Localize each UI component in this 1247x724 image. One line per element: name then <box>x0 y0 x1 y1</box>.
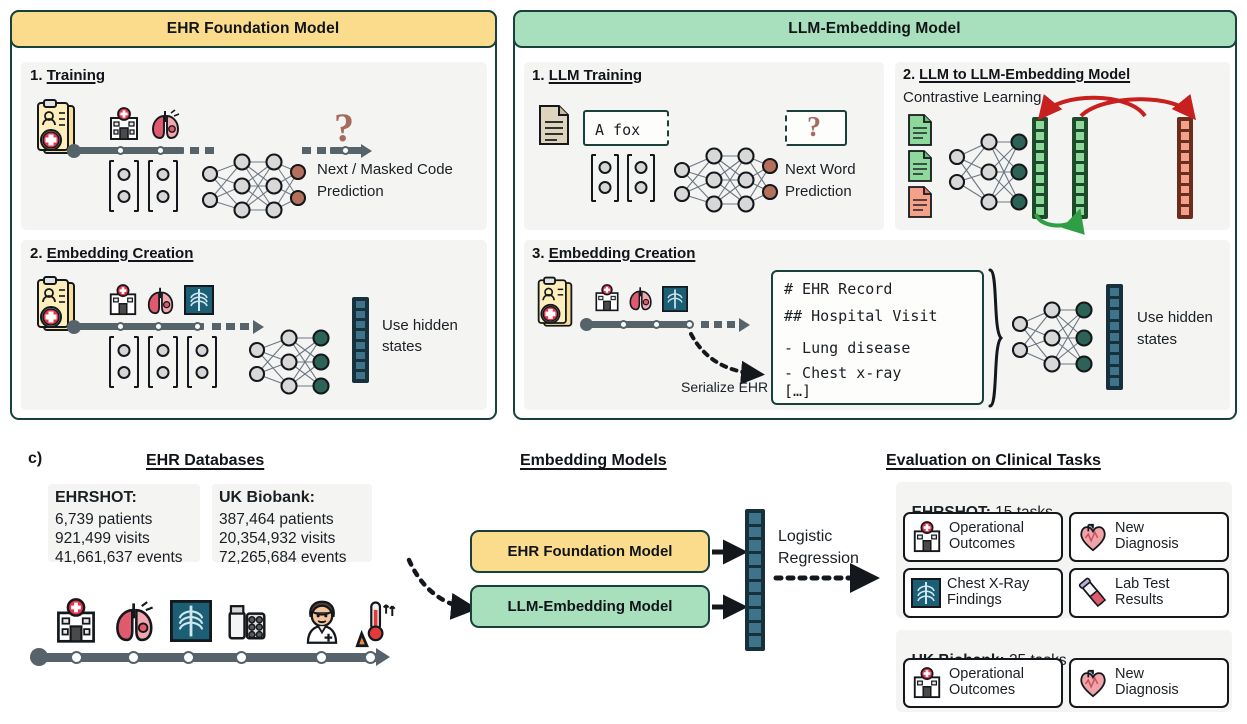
record-line-5: […] <box>784 378 811 404</box>
panel-b-step1-output-line2: Prediction <box>785 184 852 201</box>
neural-network-diagram <box>670 148 780 214</box>
panel-c-letter: c) <box>28 450 42 468</box>
record-line-3: - Lung disease <box>784 335 910 361</box>
serialize-arrow <box>687 330 771 382</box>
panel-a-step1-output-line1: Next / Masked Code <box>317 162 453 179</box>
task-card-chest-xray-findings[interactable]: Chest X-Ray Findings <box>903 568 1063 618</box>
lungs-icon <box>145 284 177 316</box>
panel-b-step2-label: LLM to LLM-Embedding Model <box>919 67 1130 83</box>
task-label-line1: New <box>1115 520 1144 536</box>
panel-b-step1-label: LLM Training <box>549 67 642 84</box>
ehrshot-events: 41,661,637 events <box>55 549 183 566</box>
embedding-output-vector <box>745 509 765 651</box>
lungs-icon <box>627 284 655 312</box>
contrastive-repel-arrows <box>1025 90 1205 126</box>
panel-a-step1-number: 1. <box>30 67 43 84</box>
panel-b-step1-output-line1: Next Word <box>785 162 856 179</box>
token-embedding-2 <box>148 336 178 388</box>
timeline-node <box>619 320 628 329</box>
task-label-line2: Findings <box>947 592 1002 608</box>
panel-a-step2-output-line2: states <box>382 339 422 356</box>
negative-document-icon <box>907 186 933 218</box>
predicted-token-box: ? <box>785 110 847 146</box>
lungs-icon <box>112 598 158 644</box>
task-card-new-diagnosis-ukb[interactable]: New Diagnosis <box>1069 658 1229 708</box>
question-mark-icon: ? <box>807 112 821 144</box>
hospital-icon <box>107 284 139 316</box>
timeline-node <box>235 651 248 664</box>
anchor-embedding-vector <box>1032 117 1048 219</box>
timeline-node <box>116 322 125 331</box>
token-embedding-1 <box>109 336 139 388</box>
panel-b-step2-subtitle: Contrastive Learning <box>903 90 1041 107</box>
panel-a-step2-number: 2. <box>30 245 43 262</box>
document-icon <box>537 104 571 146</box>
task-label-line1: Operational <box>949 520 1024 536</box>
neural-network-diagram <box>947 127 1031 217</box>
panel-b-step3-number: 3. <box>532 245 545 262</box>
ehrshot-visits: 921,499 visits <box>55 530 150 547</box>
task-label-line1: Lab Test <box>1115 576 1170 592</box>
timeline-dash <box>317 147 326 154</box>
lungs-icon <box>149 107 183 141</box>
task-label-line2: Diagnosis <box>1115 682 1179 698</box>
panel-a-title-bar: EHR Foundation Model <box>10 10 497 48</box>
chest-xray-icon <box>662 286 688 312</box>
llm-embedding-model-pill[interactable]: LLM-Embedding Model <box>470 585 710 628</box>
task-label-line1: New <box>1115 666 1144 682</box>
timeline-dash <box>212 323 221 330</box>
panel-a-step2-title: 2. Embedding Creation <box>30 245 193 262</box>
task-card-operational-outcomes-ukb[interactable]: Operational Outcomes <box>903 658 1063 708</box>
question-mark-icon: ? <box>334 104 354 151</box>
hospital-icon <box>107 107 141 141</box>
panel-b-step1-number: 1. <box>532 67 545 84</box>
panel-b-title-bar: LLM-Embedding Model <box>513 10 1237 48</box>
timeline-dash <box>714 321 722 328</box>
ukbiobank-name: UK Biobank: <box>219 489 315 507</box>
ukbiobank-visits: 20,354,932 visits <box>219 530 335 547</box>
token-embedding-1 <box>109 160 139 212</box>
logistic-regression-label-line1: Logistic <box>778 528 832 546</box>
positive-document-icon <box>907 150 933 182</box>
timeline-node <box>116 146 125 155</box>
panel-a-step1-title: 1. Training <box>30 67 105 84</box>
timeline-node <box>156 146 165 155</box>
thermometer-icon <box>354 598 396 644</box>
vector-to-tasks-arrow <box>776 570 886 586</box>
task-label-line1: Operational <box>949 666 1024 682</box>
chest-xray-icon <box>911 578 941 608</box>
curly-brace <box>987 268 1005 408</box>
patient-record-icon <box>535 277 575 329</box>
task-label-line2: Outcomes <box>949 682 1015 698</box>
heart-icon <box>1077 667 1109 699</box>
panel-b-step3-output-line1: Use hidden <box>1137 310 1213 327</box>
panel-b-title: LLM-Embedding Model <box>788 20 960 38</box>
token-embedding-3 <box>187 336 217 388</box>
test-tube-icon <box>1077 577 1109 609</box>
medication-icon <box>226 600 268 642</box>
ukbiobank-events: 72,265,684 events <box>219 549 347 566</box>
task-card-lab-test-results[interactable]: Lab Test Results <box>1069 568 1229 618</box>
panel-a-step2-label: Embedding Creation <box>47 245 194 262</box>
timeline-track <box>74 147 184 154</box>
neural-network-diagram <box>198 152 308 222</box>
timeline-node <box>154 322 163 331</box>
panel-b-step3-title: 3. Embedding Creation <box>532 245 695 262</box>
panel-a-step1-output-line2: Prediction <box>317 184 384 201</box>
hidden-state-vector <box>352 297 369 383</box>
hidden-state-vector <box>1106 284 1123 390</box>
hospital-icon <box>911 521 943 553</box>
token-embedding-2 <box>627 154 655 202</box>
hospital-icon <box>911 667 943 699</box>
ehr-foundation-model-label: EHR Foundation Model <box>508 543 673 560</box>
token-embedding-2 <box>148 160 178 212</box>
timeline-node <box>685 320 694 329</box>
panel-a-ehr-foundation-model: EHR Foundation Model 1. Training <box>10 10 497 420</box>
llm-embedding-model-label: LLM-Embedding Model <box>508 598 673 615</box>
contrastive-attract-arrow <box>1030 212 1100 234</box>
panel-a-step2-output-line1: Use hidden <box>382 318 458 335</box>
embedding-models-title: Embedding Models <box>520 452 667 470</box>
task-label-line2: Outcomes <box>949 536 1015 552</box>
task-label-line2: Diagnosis <box>1115 536 1179 552</box>
timeline-node <box>315 651 328 664</box>
timeline-dash <box>240 323 249 330</box>
task-label-line2: Results <box>1115 592 1163 608</box>
timeline-node <box>652 320 661 329</box>
ukbiobank-patients: 387,464 patients <box>219 511 334 528</box>
serialize-label: Serialize EHR <box>681 380 768 396</box>
heart-icon <box>1077 521 1109 553</box>
ehr-databases-title: EHR Databases <box>146 452 264 470</box>
panel-b-step2-number: 2. <box>903 67 915 83</box>
chest-xray-icon <box>170 600 212 642</box>
timeline-node <box>341 146 350 155</box>
panel-b-llm-embedding-model: LLM-Embedding Model 1. LLM Training A fo… <box>513 10 1237 420</box>
doctor-icon <box>300 598 344 644</box>
input-token-box: A fox <box>583 110 669 146</box>
task-label-line1: Chest X-Ray <box>947 576 1029 592</box>
input-token-text: A fox <box>595 117 640 143</box>
token-embedding-1 <box>591 154 619 202</box>
timeline-arrowhead <box>361 144 372 158</box>
chest-xray-icon <box>184 285 214 315</box>
panel-a-step1-label: Training <box>47 67 105 84</box>
timeline-dash <box>226 323 235 330</box>
timeline-node <box>182 651 195 664</box>
panel-b-step3-output-line2: states <box>1137 332 1177 349</box>
record-line-2: ## Hospital Visit <box>784 303 938 329</box>
hospital-icon <box>593 284 621 312</box>
timeline-track <box>74 323 204 330</box>
ehrshot-patients: 6,739 patients <box>55 511 152 528</box>
evaluation-title: Evaluation on Clinical Tasks <box>886 452 1101 470</box>
task-card-new-diagnosis[interactable]: New Diagnosis <box>1069 512 1229 562</box>
timeline-node <box>70 651 83 664</box>
neural-network-diagram <box>1010 300 1096 376</box>
task-card-operational-outcomes[interactable]: Operational Outcomes <box>903 512 1063 562</box>
positive-document-icon <box>907 114 933 146</box>
neural-network-diagram <box>247 330 333 396</box>
positive-embedding-vector <box>1072 117 1088 219</box>
timeline-node <box>193 322 202 331</box>
panel-b-step1-title: 1. LLM Training <box>532 67 642 84</box>
record-line-1: # EHR Record <box>784 276 892 302</box>
timeline-arrowhead <box>376 648 390 666</box>
ehrshot-name: EHRSHOT: <box>55 489 137 507</box>
logistic-regression-label-line2: Regression <box>778 550 859 568</box>
panel-b-step3-label: Embedding Creation <box>549 245 696 262</box>
timeline-node <box>127 651 140 664</box>
panel-b-step2-title: 2. LLM to LLM-Embedding Model <box>903 67 1130 83</box>
negative-embedding-vector <box>1177 117 1193 219</box>
ehr-foundation-model-pill[interactable]: EHR Foundation Model <box>470 530 710 573</box>
timeline-track <box>586 321 691 328</box>
timeline-dash <box>701 321 709 328</box>
hospital-icon <box>53 598 99 644</box>
serialized-ehr-box: # EHR Record ## Hospital Visit - Lung di… <box>771 270 984 405</box>
timeline-dash <box>727 321 735 328</box>
panel-a-title: EHR Foundation Model <box>167 20 339 38</box>
